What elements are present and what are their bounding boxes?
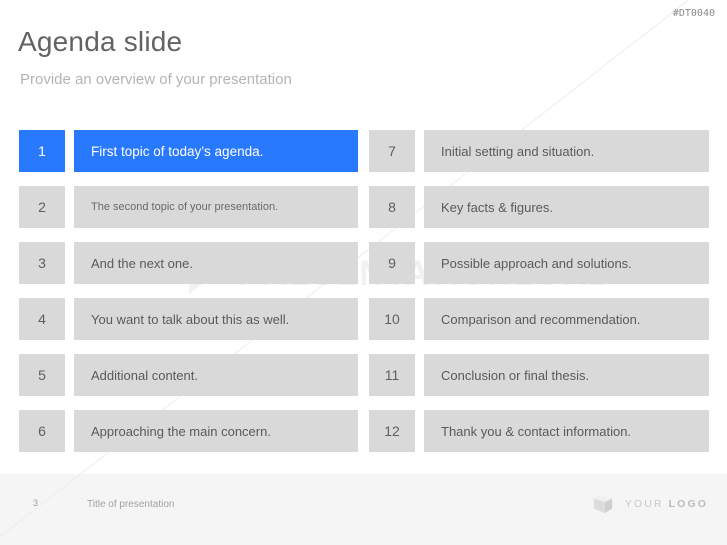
agenda-label-4: You want to talk about this as well. xyxy=(74,298,358,340)
template-code: #DT0040 xyxy=(673,8,715,19)
page-number: 3 xyxy=(33,498,38,508)
logo-placeholder: YOUR LOGO xyxy=(592,493,708,515)
agenda-number-9: 9 xyxy=(369,242,415,284)
agenda-item-4[interactable]: 4 You want to talk about this as well. xyxy=(19,298,358,340)
agenda-label-8: Key facts & figures. xyxy=(424,186,709,228)
agenda-label-2: The second topic of your presentation. xyxy=(74,186,358,228)
agenda-label-5: Additional content. xyxy=(74,354,358,396)
agenda-item-9[interactable]: 9 Possible approach and solutions. xyxy=(369,242,709,284)
agenda-number-3: 3 xyxy=(19,242,65,284)
agenda-item-12[interactable]: 12 Thank you & contact information. xyxy=(369,410,709,452)
agenda-item-2[interactable]: 2 The second topic of your presentation. xyxy=(19,186,358,228)
agenda-number-1: 1 xyxy=(19,130,65,172)
agenda-item-7[interactable]: 7 Initial setting and situation. xyxy=(369,130,709,172)
logo-text-bold: LOGO xyxy=(669,498,708,510)
slide-canvas: PRESENTATIONLOAD #DT0040 Agenda slide Pr… xyxy=(0,0,727,545)
cube-icon xyxy=(592,493,614,515)
agenda-label-11: Conclusion or final thesis. xyxy=(424,354,709,396)
agenda-number-6: 6 xyxy=(19,410,65,452)
logo-text: YOUR LOGO xyxy=(625,498,708,510)
agenda-item-6[interactable]: 6 Approaching the main concern. xyxy=(19,410,358,452)
page-subtitle: Provide an overview of your presentation xyxy=(20,71,292,88)
agenda-item-3[interactable]: 3 And the next one. xyxy=(19,242,358,284)
agenda-number-8: 8 xyxy=(369,186,415,228)
agenda-item-11[interactable]: 11 Conclusion or final thesis. xyxy=(369,354,709,396)
page-title: Agenda slide xyxy=(18,26,182,58)
agenda-number-12: 12 xyxy=(369,410,415,452)
agenda-label-3: And the next one. xyxy=(74,242,358,284)
agenda-number-4: 4 xyxy=(19,298,65,340)
agenda-column-right: 7 Initial setting and situation. 8 Key f… xyxy=(369,130,709,452)
agenda-item-8[interactable]: 8 Key facts & figures. xyxy=(369,186,709,228)
agenda-item-5[interactable]: 5 Additional content. xyxy=(19,354,358,396)
agenda-label-6: Approaching the main concern. xyxy=(74,410,358,452)
agenda-label-1: First topic of today’s agenda. xyxy=(74,130,358,172)
agenda-number-11: 11 xyxy=(369,354,415,396)
agenda-number-7: 7 xyxy=(369,130,415,172)
logo-text-light: YOUR xyxy=(625,498,669,510)
agenda-number-2: 2 xyxy=(19,186,65,228)
agenda-item-1[interactable]: 1 First topic of today’s agenda. xyxy=(19,130,358,172)
agenda-number-10: 10 xyxy=(369,298,415,340)
agenda-item-10[interactable]: 10 Comparison and recommendation. xyxy=(369,298,709,340)
agenda-label-9: Possible approach and solutions. xyxy=(424,242,709,284)
agenda-column-left: 1 First topic of today’s agenda. 2 The s… xyxy=(19,130,358,452)
agenda-label-7: Initial setting and situation. xyxy=(424,130,709,172)
agenda-number-5: 5 xyxy=(19,354,65,396)
footer-presentation-title: Title of presentation xyxy=(87,499,174,510)
agenda-label-12: Thank you & contact information. xyxy=(424,410,709,452)
agenda-label-10: Comparison and recommendation. xyxy=(424,298,709,340)
